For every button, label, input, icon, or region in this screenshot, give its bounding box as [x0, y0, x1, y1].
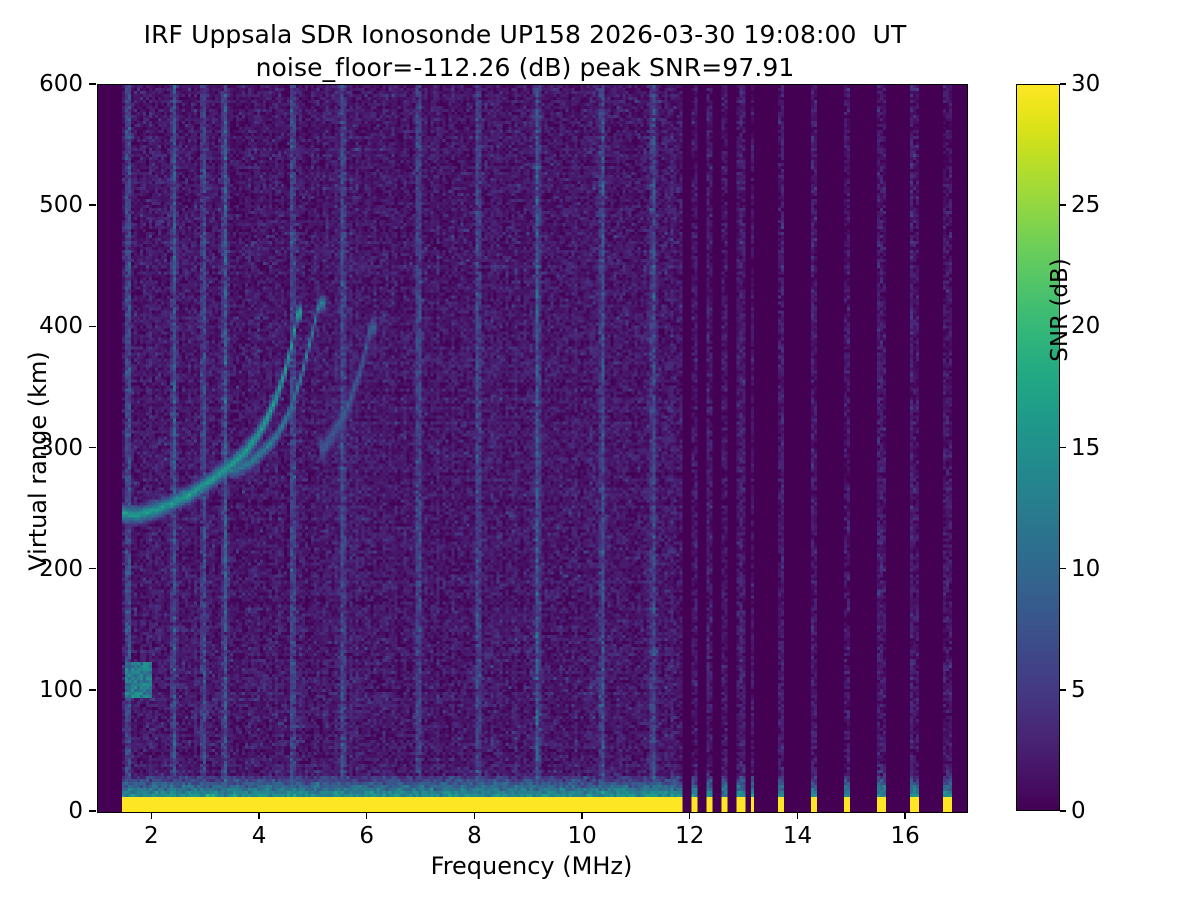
ionogram-figure: IRF Uppsala SDR Ionosonde UP158 2026-03-…	[0, 0, 1200, 900]
colorbar-tick-label: 10	[1071, 556, 1100, 582]
x-tick-mark	[904, 812, 905, 819]
y-tick-label: 600	[0, 71, 83, 97]
x-tick-mark	[366, 812, 367, 819]
colorbar-tick-label: 25	[1071, 192, 1100, 218]
title-line-secondary: noise_floor=-112.26 (dB) peak SNR=97.91	[0, 51, 1050, 84]
x-tick-mark	[689, 812, 690, 819]
colorbar-tick-label: 20	[1071, 313, 1100, 339]
y-tick-mark	[89, 568, 96, 569]
x-tick-mark	[581, 812, 582, 819]
y-tick-mark	[89, 326, 96, 327]
x-tick-mark	[474, 812, 475, 819]
x-tick-mark	[151, 812, 152, 819]
x-tick-label: 12	[675, 823, 704, 849]
colorbar-tick-mark	[1060, 83, 1066, 84]
y-tick-label: 100	[0, 677, 83, 703]
x-tick-label: 16	[891, 823, 920, 849]
ionogram-plot-area[interactable]	[97, 84, 968, 813]
colorbar-tick-label: 30	[1071, 71, 1100, 97]
title-line-primary: IRF Uppsala SDR Ionosonde UP158 2026-03-…	[0, 18, 1050, 51]
y-tick-mark	[89, 810, 96, 811]
x-tick-label: 2	[144, 823, 159, 849]
x-tick-mark	[258, 812, 259, 819]
x-tick-label: 4	[252, 823, 267, 849]
x-tick-label: 6	[359, 823, 374, 849]
colorbar-tick-label: 5	[1071, 677, 1086, 703]
y-tick-mark	[89, 83, 96, 84]
colorbar-label: SNR (dB)	[1047, 160, 1073, 460]
colorbar-tick-label: 0	[1071, 798, 1086, 824]
colorbar-tick-mark	[1060, 810, 1066, 811]
figure-title: IRF Uppsala SDR Ionosonde UP158 2026-03-…	[0, 18, 1050, 84]
y-tick-mark	[89, 447, 96, 448]
y-tick-mark	[89, 689, 96, 690]
y-tick-label: 500	[0, 192, 83, 218]
colorbar-tick-label: 15	[1071, 435, 1100, 461]
y-axis-label: Virtual range (km)	[24, 301, 52, 621]
colorbar-tick-mark	[1060, 568, 1066, 569]
x-tick-label: 14	[783, 823, 812, 849]
x-tick-label: 8	[467, 823, 482, 849]
y-tick-mark	[89, 204, 96, 205]
x-axis-label: Frequency (MHz)	[97, 852, 966, 880]
ionogram-heatmap	[98, 85, 967, 812]
x-tick-mark	[797, 812, 798, 819]
x-tick-label: 10	[567, 823, 596, 849]
colorbar-tick-mark	[1060, 689, 1066, 690]
y-tick-label: 0	[0, 798, 83, 824]
